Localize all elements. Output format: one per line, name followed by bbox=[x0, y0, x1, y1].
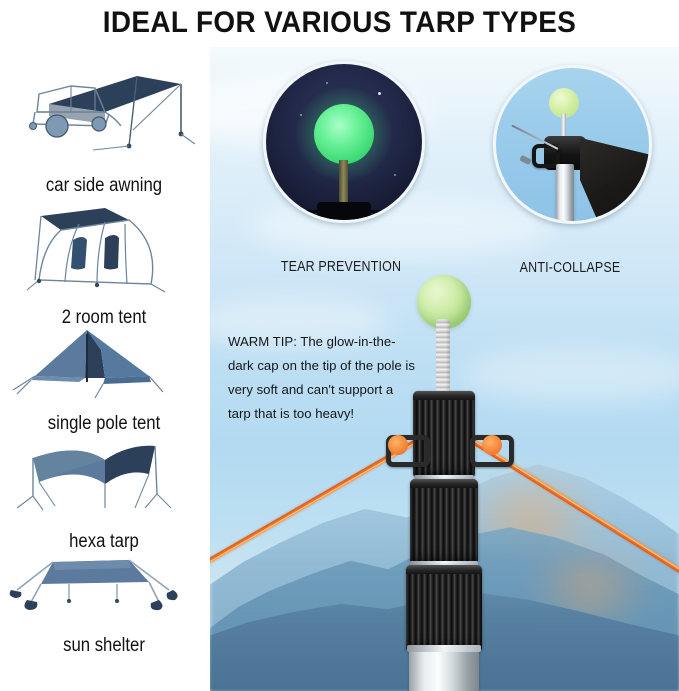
two-room-tent-icon bbox=[0, 194, 208, 306]
product-photo: TEAR PREVENTION ANTI-COLLAPSE bbox=[210, 47, 679, 691]
guy-line-knot-right bbox=[482, 435, 502, 455]
sidebar-item-single-pole-tent: single pole tent bbox=[0, 320, 208, 435]
sidebar-item-hexa-tarp: hexa tarp bbox=[0, 434, 208, 553]
guy-line-knot-left bbox=[388, 435, 408, 455]
hexa-tarp-icon bbox=[0, 434, 208, 530]
sidebar-item-2-room-tent: 2 room tent bbox=[0, 194, 208, 329]
car-side-awning-icon bbox=[0, 54, 208, 174]
sidebar-item-car-side-awning: car side awning bbox=[0, 54, 208, 197]
cap-shaft bbox=[436, 319, 450, 397]
pole-assembly bbox=[210, 47, 679, 691]
pole-shaft-lower bbox=[409, 647, 479, 691]
twist-lock-collar-lower bbox=[406, 565, 482, 651]
twist-lock-collar-middle bbox=[410, 479, 478, 563]
sidebar-item-sun-shelter: sun shelter bbox=[0, 546, 208, 657]
sidebar-item-label: single pole tent bbox=[12, 413, 195, 435]
tarp-types-sidebar: car side awning bbox=[0, 46, 208, 691]
single-pole-tent-icon bbox=[0, 320, 208, 412]
sun-shelter-icon bbox=[0, 546, 208, 634]
pole-band bbox=[407, 645, 481, 652]
sidebar-item-label: sun shelter bbox=[12, 635, 195, 657]
infographic-page: IDEAL FOR VARIOUS TARP TYPES bbox=[0, 0, 679, 691]
page-title: IDEAL FOR VARIOUS TARP TYPES bbox=[24, 0, 655, 46]
